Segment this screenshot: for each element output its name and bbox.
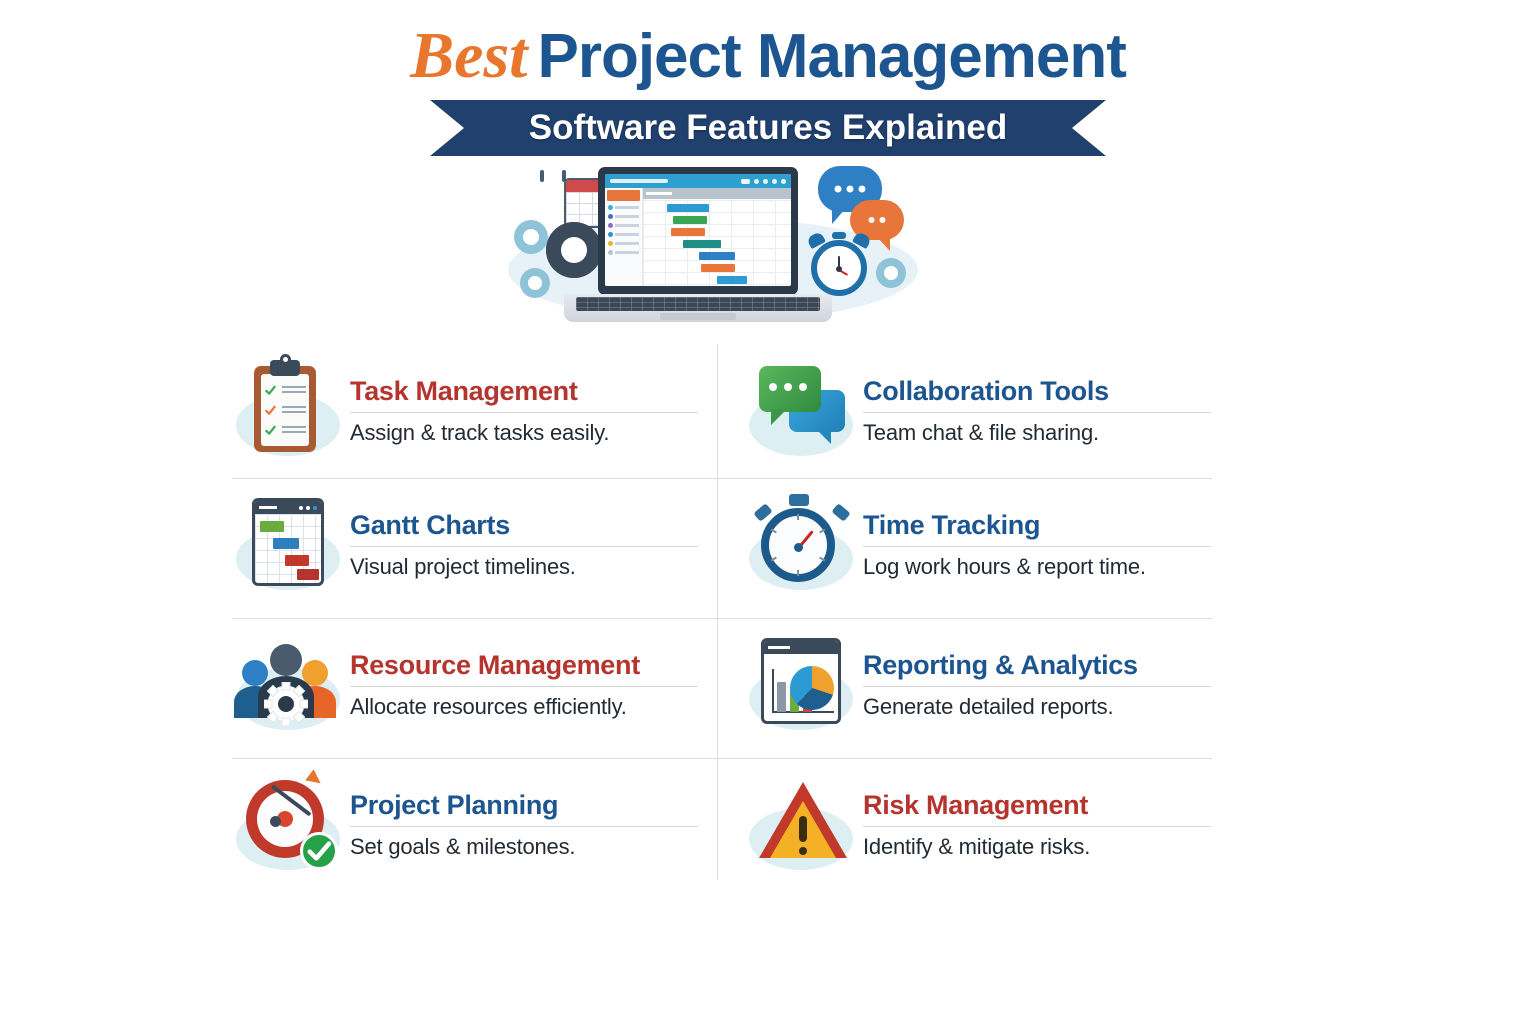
feature-title: Task Management — [350, 375, 698, 407]
feature-title: Resource Management — [350, 649, 698, 681]
feature-text: Project Planning Set goals & milestones. — [344, 789, 702, 861]
alarm-clock-icon — [806, 232, 872, 302]
calendar-icon — [528, 166, 588, 226]
chat-bubbles-icon — [745, 356, 857, 466]
infographic-page: BestProject Management Software Features… — [0, 0, 1536, 1024]
title-underline — [863, 412, 1211, 413]
gear-overlay-icon — [264, 682, 308, 726]
app-gantt-chart — [643, 188, 791, 286]
page-title: BestProject Management — [0, 18, 1536, 95]
title-underline — [350, 826, 698, 827]
feature-text: Risk Management Identify & mitigate risk… — [857, 789, 1215, 861]
title-underline — [350, 412, 698, 413]
title-accent-word: Best — [410, 19, 537, 92]
feature-card-task-management[interactable]: Task Management Assign & track tasks eas… — [232, 344, 702, 478]
feature-card-collaboration-tools[interactable]: Collaboration Tools Team chat & file sha… — [745, 344, 1215, 478]
feature-text: Time Tracking Log work hours & report ti… — [857, 509, 1215, 581]
feature-title: Project Planning — [350, 789, 698, 821]
feature-description: Allocate resources efficiently. — [350, 693, 698, 721]
feature-title: Risk Management — [863, 789, 1211, 821]
feature-text: Task Management Assign & track tasks eas… — [344, 375, 702, 447]
feature-description: Visual project timelines. — [350, 553, 698, 581]
title-underline — [863, 546, 1211, 547]
subtitle-ribbon: Software Features Explained — [430, 100, 1106, 156]
feature-description: Team chat & file sharing. — [863, 419, 1211, 447]
warning-triangle-icon — [745, 770, 857, 880]
feature-card-resource-management[interactable]: Resource Management Allocate resources e… — [232, 618, 702, 752]
feature-description: Generate detailed reports. — [863, 693, 1211, 721]
feature-card-gantt-charts[interactable]: Gantt Charts Visual project timelines. — [232, 478, 702, 612]
feature-description: Log work hours & report time. — [863, 553, 1211, 581]
gantt-chart-window-icon — [232, 490, 344, 600]
feature-card-risk-management[interactable]: Risk Management Identify & mitigate risk… — [745, 758, 1215, 892]
feature-description: Assign & track tasks easily. — [350, 419, 698, 447]
gear-icon-large — [546, 222, 602, 278]
target-checkmark-icon — [232, 770, 344, 880]
feature-grid: Task Management Assign & track tasks eas… — [232, 344, 1212, 880]
ribbon-label: Software Features Explained — [529, 108, 1007, 148]
feature-description: Set goals & milestones. — [350, 833, 698, 861]
app-sidebar — [605, 188, 643, 286]
grid-vertical-divider — [717, 344, 718, 880]
title-underline — [863, 686, 1211, 687]
feature-text: Resource Management Allocate resources e… — [344, 649, 702, 721]
title-underline — [863, 826, 1211, 827]
team-gear-icon — [232, 630, 344, 740]
feature-title: Reporting & Analytics — [863, 649, 1211, 681]
feature-description: Identify & mitigate risks. — [863, 833, 1211, 861]
clipboard-checklist-icon — [232, 356, 344, 466]
title-underline — [350, 546, 698, 547]
hero-illustration — [498, 160, 928, 340]
gear-icon-small-bottom — [520, 268, 550, 298]
title-main-words: Project Management — [537, 22, 1125, 91]
gear-icon-right — [876, 258, 906, 288]
feature-title: Gantt Charts — [350, 509, 698, 541]
report-analytics-icon — [745, 630, 857, 740]
title-underline — [350, 686, 698, 687]
ribbon-band: Software Features Explained — [430, 100, 1106, 156]
feature-text: Collaboration Tools Team chat & file sha… — [857, 375, 1215, 447]
stopwatch-icon — [745, 490, 857, 600]
feature-card-time-tracking[interactable]: Time Tracking Log work hours & report ti… — [745, 478, 1215, 612]
feature-text: Gantt Charts Visual project timelines. — [344, 509, 702, 581]
feature-text: Reporting & Analytics Generate detailed … — [857, 649, 1215, 721]
feature-title: Collaboration Tools — [863, 375, 1211, 407]
feature-card-reporting-analytics[interactable]: Reporting & Analytics Generate detailed … — [745, 618, 1215, 752]
feature-title: Time Tracking — [863, 509, 1211, 541]
checkmark-badge-icon — [300, 832, 338, 870]
gear-icon-small-top — [514, 220, 548, 254]
header: BestProject Management — [0, 18, 1536, 95]
feature-card-project-planning[interactable]: Project Planning Set goals & milestones. — [232, 758, 702, 892]
app-topbar — [605, 174, 791, 188]
